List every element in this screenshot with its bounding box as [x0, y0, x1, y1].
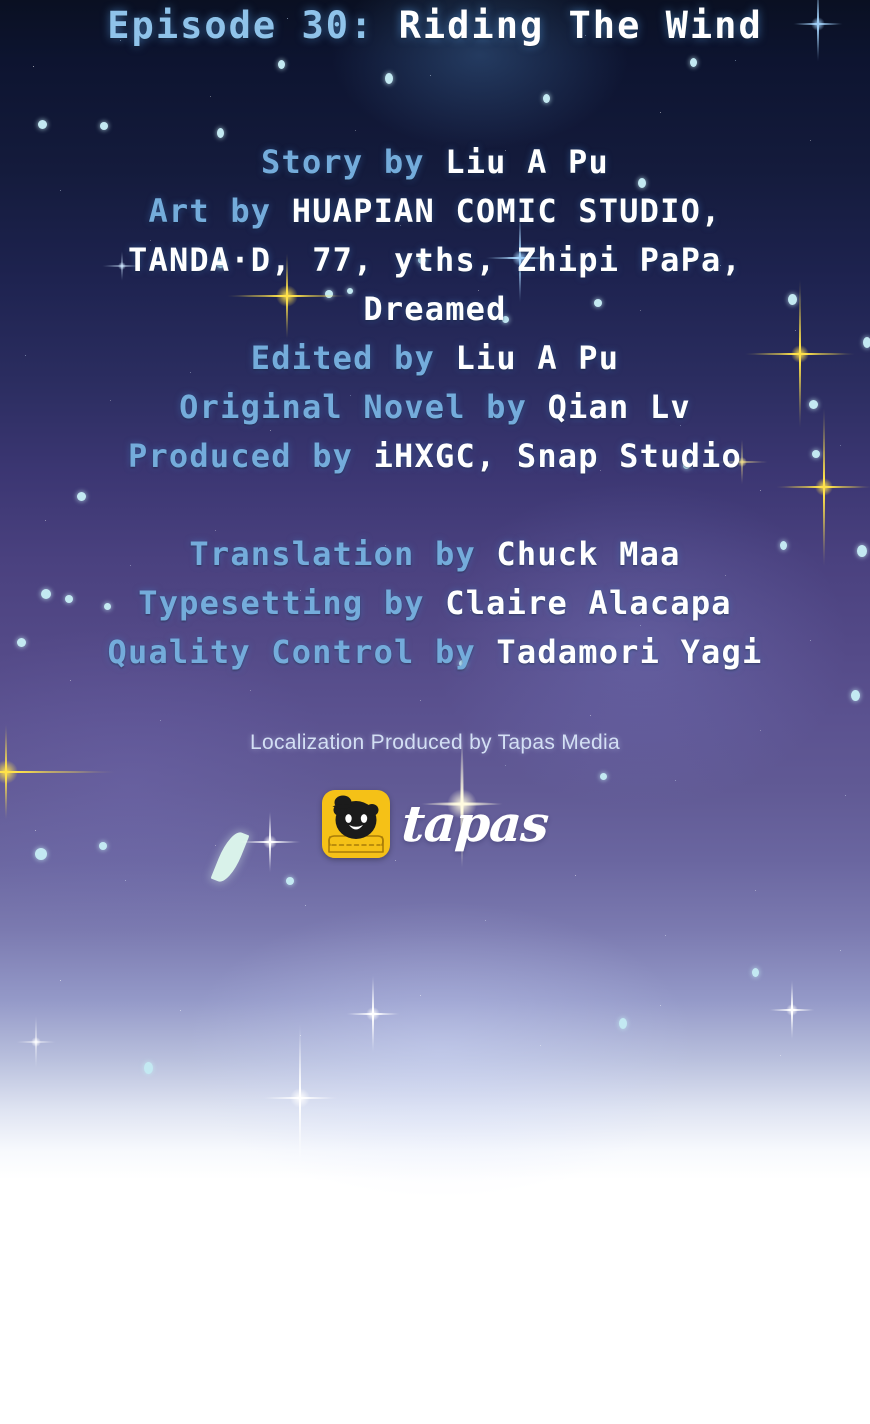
credit-names: Chuck Maa — [496, 535, 680, 573]
credit-line: Art by HUAPIAN COMIC STUDIO, — [0, 187, 870, 236]
credit-names: Liu A Pu — [445, 143, 609, 181]
tapas-logo[interactable]: tapas — [0, 785, 870, 863]
bokeh-dot — [690, 58, 697, 67]
credit-line: Original Novel by Qian Lv — [0, 383, 870, 432]
credits-page: Episode 30: Riding The Wind Story by Liu… — [0, 0, 870, 1424]
bokeh-dot — [543, 94, 550, 103]
credit-line: Edited by Liu A Pu — [0, 334, 870, 383]
credit-names: Qian Lv — [548, 388, 691, 426]
episode-number-label: Episode 30: — [107, 4, 374, 47]
tapas-mascot-icon — [322, 790, 390, 858]
credit-role: Translation by — [189, 535, 476, 573]
localization-note: Localization Produced by Tapas Media — [0, 731, 870, 755]
credit-line: Quality Control by Tadamori Yagi — [0, 628, 870, 677]
credit-line: Translation by Chuck Maa — [0, 530, 870, 579]
bokeh-dot — [100, 122, 108, 130]
credit-role: Art by — [148, 192, 271, 230]
bokeh-dot — [619, 1018, 627, 1029]
bokeh-dot — [278, 60, 285, 69]
bokeh-dot — [752, 968, 759, 977]
bokeh-dot — [600, 773, 607, 780]
bokeh-dot — [385, 73, 393, 84]
credit-names: iHXGC, Snap Studio — [374, 437, 742, 475]
credit-names: HUAPIAN COMIC STUDIO, — [292, 192, 722, 230]
bokeh-dot — [851, 690, 860, 701]
credit-names: Liu A Pu — [455, 339, 619, 377]
original-credits-block: Story by Liu A Pu Art by HUAPIAN COMIC S… — [0, 138, 870, 481]
localization-credits-block: Translation by Chuck Maa Typesetting by … — [0, 530, 870, 677]
episode-name-label: Riding The Wind — [399, 4, 763, 47]
bokeh-dot — [286, 877, 294, 885]
credit-names-continued: Dreamed — [0, 285, 870, 334]
tapas-wordmark: tapas — [400, 799, 550, 849]
credit-line: Typesetting by Claire Alacapa — [0, 579, 870, 628]
star-dust — [0, 0, 1, 1]
credit-role: Quality Control by — [108, 633, 476, 671]
episode-title: Episode 30: Riding The Wind — [0, 4, 870, 47]
credit-role: Produced by — [128, 437, 353, 475]
bokeh-dot — [217, 128, 224, 138]
credit-names-continued: TANDA·D, 77, yths, Zhipi PaPa, — [0, 236, 870, 285]
credit-names: Claire Alacapa — [445, 584, 732, 622]
bokeh-dot — [144, 1062, 153, 1074]
credit-role: Story by — [261, 143, 425, 181]
bokeh-dot — [77, 492, 86, 501]
credit-role: Typesetting by — [138, 584, 425, 622]
credit-role: Original Novel by — [179, 388, 527, 426]
credit-line: Produced by iHXGC, Snap Studio — [0, 432, 870, 481]
credit-line: Story by Liu A Pu — [0, 138, 870, 187]
credit-names: Tadamori Yagi — [496, 633, 762, 671]
bokeh-dot — [38, 120, 47, 129]
credit-role: Edited by — [251, 339, 435, 377]
